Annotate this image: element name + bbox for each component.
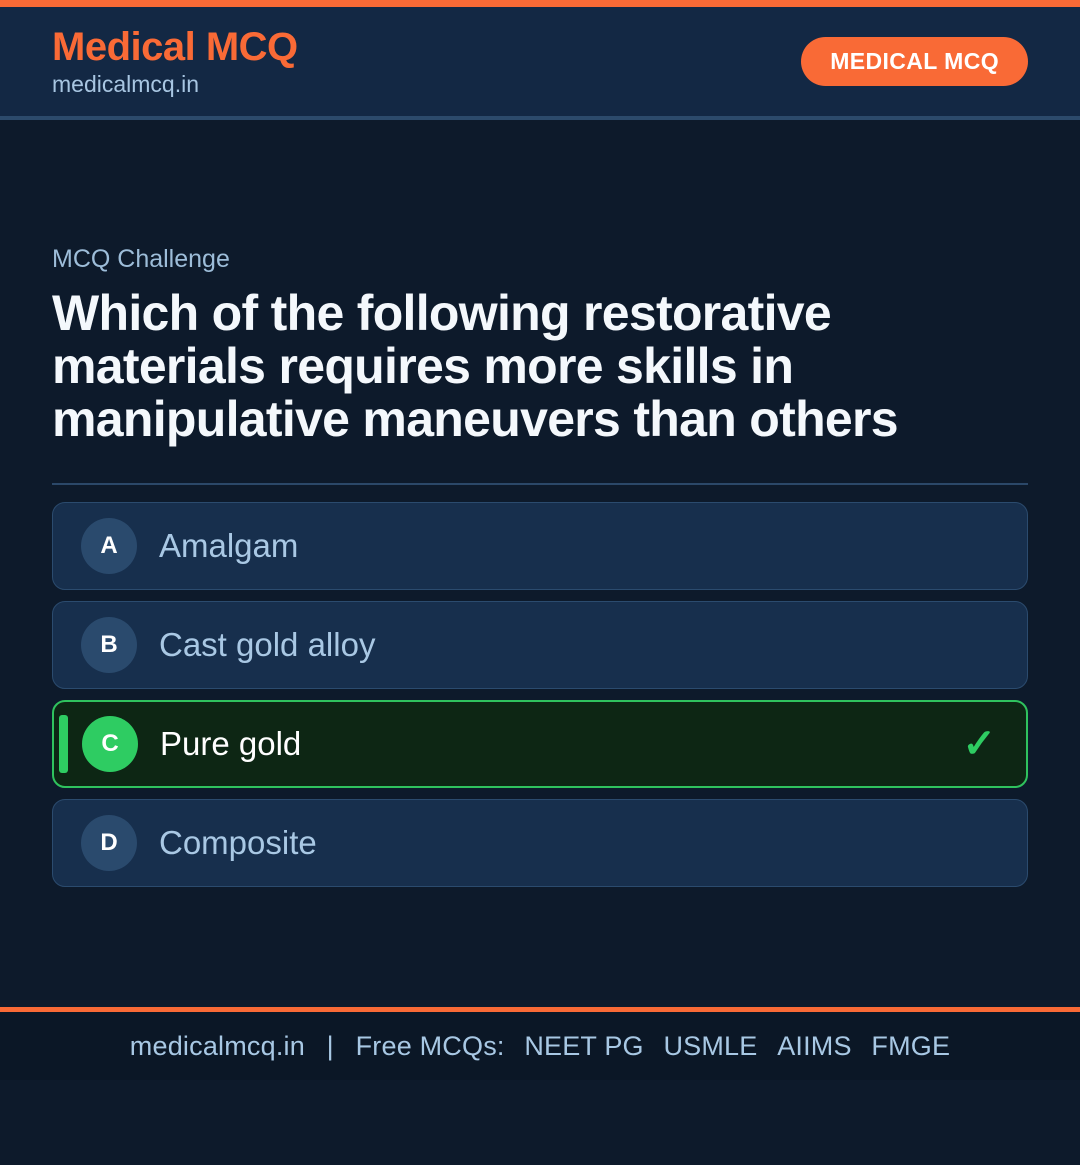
option-label-c: Pure gold (160, 726, 301, 762)
option-letter-badge-a: A (81, 518, 137, 574)
question-divider (52, 483, 1028, 485)
option-label-d: Composite (159, 825, 317, 861)
option-row-a[interactable]: A Amalgam (52, 502, 1028, 590)
option-letter-badge-d: D (81, 815, 137, 871)
footer-exam-aiims[interactable]: AIIMS (765, 1031, 852, 1061)
option-label-a: Amalgam (159, 528, 298, 564)
option-label-b: Cast gold alloy (159, 627, 375, 663)
brand-title: Medical MCQ (52, 25, 298, 70)
option-row-d[interactable]: D Composite (52, 799, 1028, 887)
options-list: A Amalgam B Cast gold alloy C Pure gold … (52, 502, 1028, 887)
footer-exam-neetpg[interactable]: NEET PG (512, 1031, 643, 1061)
footer-exams-label: Free MCQs: (356, 1031, 505, 1061)
header-badge[interactable]: MEDICAL MCQ (801, 37, 1028, 86)
footer-exam-fmge[interactable]: FMGE (859, 1031, 950, 1061)
option-row-b[interactable]: B Cast gold alloy (52, 601, 1028, 689)
option-letter-badge-c: C (82, 716, 138, 772)
brand-block[interactable]: Medical MCQ medicalmcq.in (52, 25, 298, 98)
footer-exam-usmle[interactable]: USMLE (651, 1031, 757, 1061)
footer-text: medicalmcq.in | Free MCQs: NEET PG USMLE… (130, 1031, 950, 1062)
correct-accent-bar (59, 715, 68, 773)
page-header: Medical MCQ medicalmcq.in MEDICAL MCQ (0, 7, 1080, 120)
option-row-c[interactable]: C Pure gold ✓ (52, 700, 1028, 788)
brand-subtitle: medicalmcq.in (52, 71, 298, 99)
footer-site[interactable]: medicalmcq.in (130, 1031, 305, 1061)
page-footer: medicalmcq.in | Free MCQs: NEET PG USMLE… (0, 1007, 1080, 1080)
question-text: Which of the following restorative mater… (52, 287, 1028, 446)
option-letter-badge-b: B (81, 617, 137, 673)
kicker-label: MCQ Challenge (52, 244, 1028, 274)
footer-separator: | (313, 1031, 348, 1061)
checkmark-icon: ✓ (962, 724, 996, 764)
top-accent-strip (0, 0, 1080, 7)
